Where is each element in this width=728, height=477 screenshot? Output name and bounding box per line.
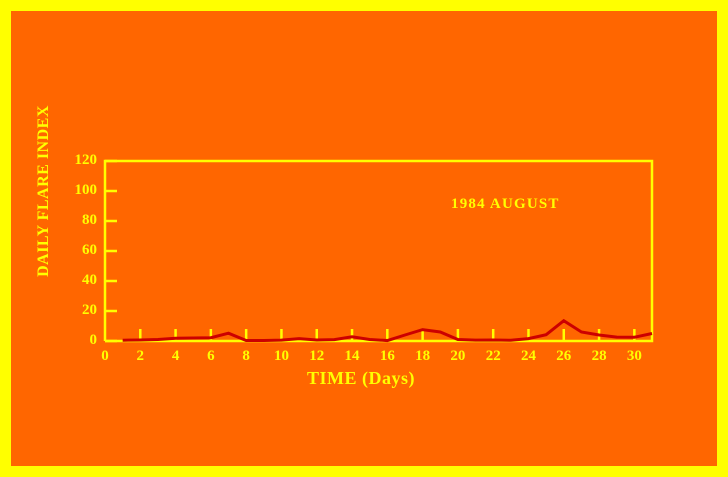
y-tick-label: 20	[57, 302, 97, 319]
x-tick-label: 30	[619, 348, 649, 365]
x-tick-label: 4	[161, 348, 191, 365]
y-tick-label: 80	[57, 212, 97, 229]
x-tick-label: 20	[443, 348, 473, 365]
plot-area: 020406080100120 024681012141618202224262…	[11, 11, 717, 466]
x-axis-title: TIME (Days)	[161, 368, 561, 389]
x-tick-label: 8	[231, 348, 261, 365]
y-tick-marks	[105, 161, 117, 341]
y-tick-label: 100	[57, 182, 97, 199]
figure-page: 020406080100120 024681012141618202224262…	[0, 0, 728, 477]
x-tick-label: 16	[372, 348, 402, 365]
x-tick-label: 2	[125, 348, 155, 365]
chart-canvas: 020406080100120 024681012141618202224262…	[11, 11, 717, 466]
chart-svg	[11, 11, 717, 466]
x-tick-label: 14	[337, 348, 367, 365]
y-axis-title: DAILY FLARE INDEX	[35, 96, 53, 286]
x-tick-label: 10	[266, 348, 296, 365]
y-tick-label: 120	[57, 152, 97, 169]
x-tick-label: 18	[408, 348, 438, 365]
x-tick-label: 22	[478, 348, 508, 365]
x-tick-label: 0	[90, 348, 120, 365]
x-tick-label: 12	[302, 348, 332, 365]
y-tick-label: 0	[57, 332, 97, 349]
axis-frame	[105, 161, 652, 341]
x-tick-label: 24	[513, 348, 543, 365]
y-tick-label: 40	[57, 272, 97, 289]
y-tick-label: 60	[57, 242, 97, 259]
x-tick-label: 28	[584, 348, 614, 365]
chart-annotation-label: 1984 AUGUST	[451, 196, 560, 213]
x-tick-label: 26	[549, 348, 579, 365]
axis-frame-path	[105, 161, 652, 341]
x-tick-label: 6	[196, 348, 226, 365]
